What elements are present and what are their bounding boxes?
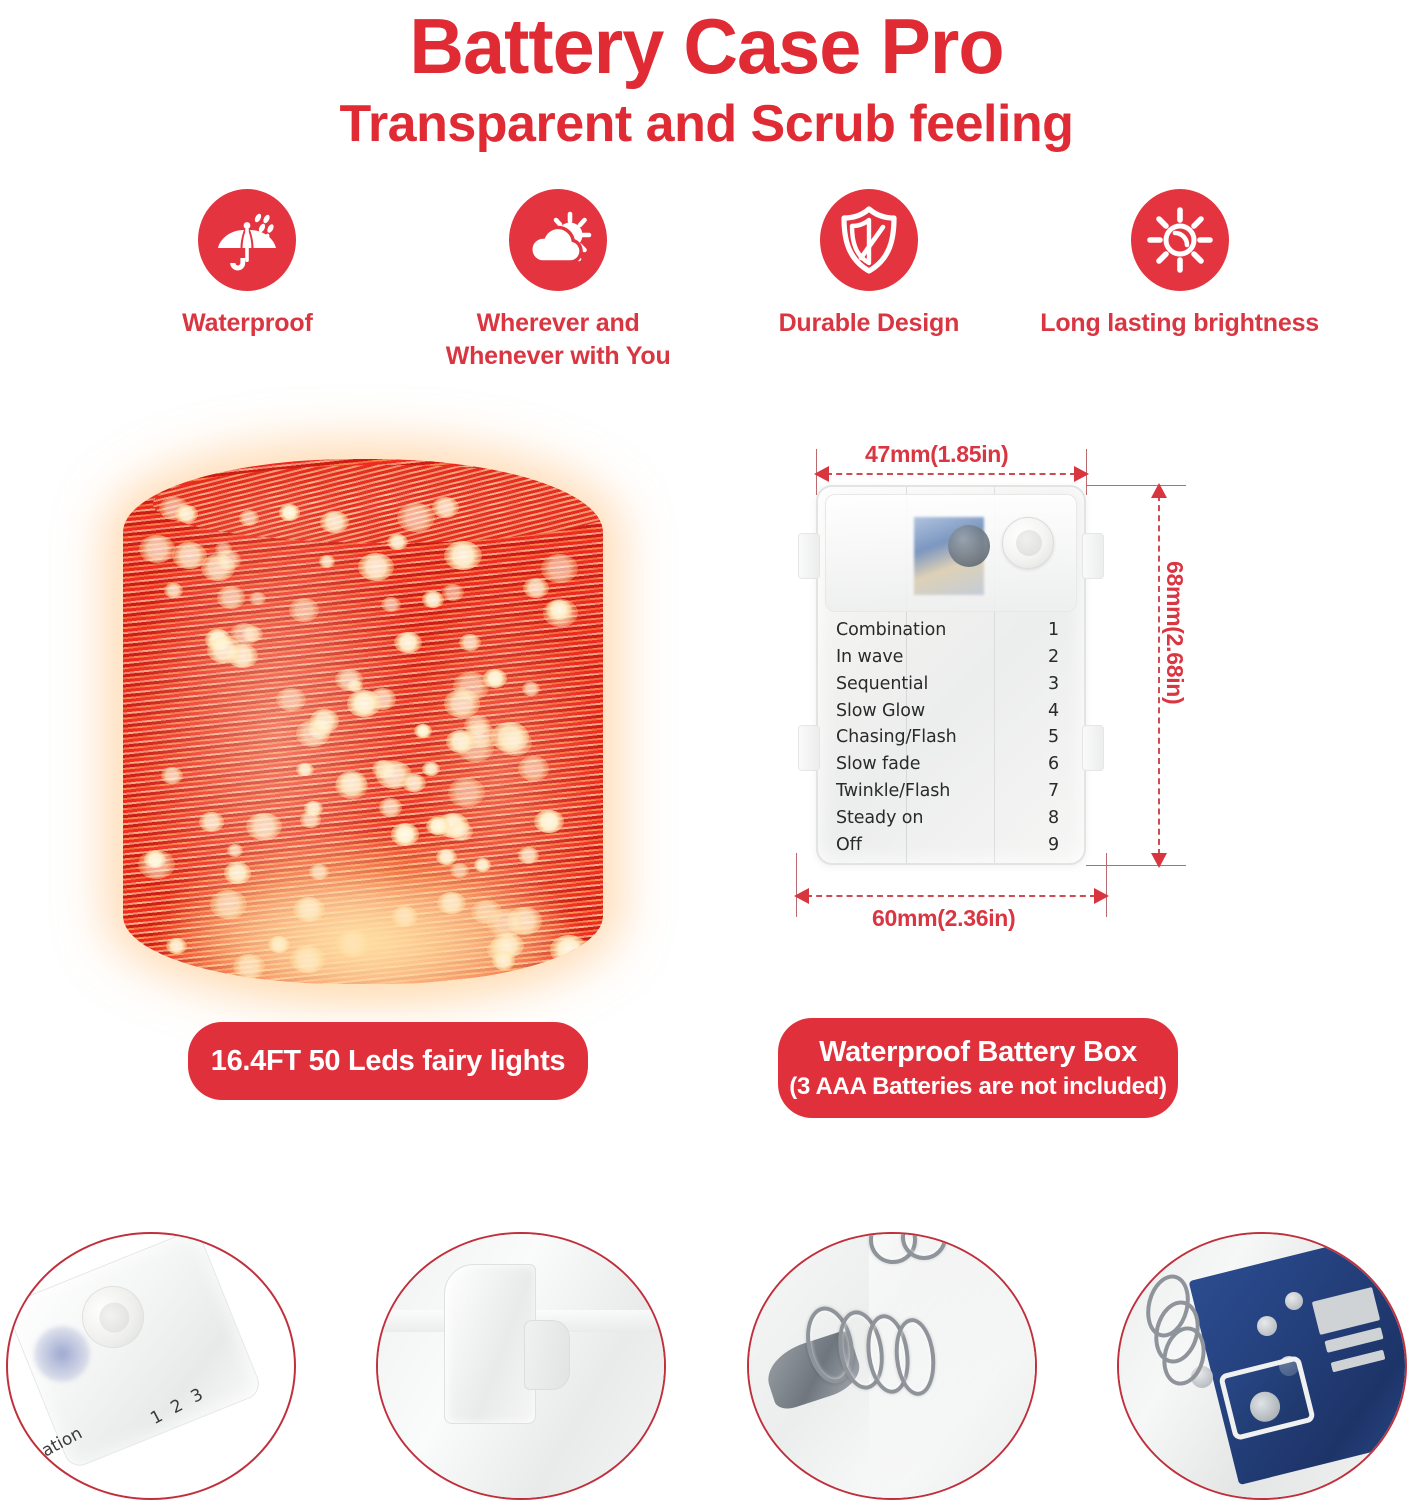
caption-fairy-lights: 16.4FT 50 Leds fairy lights — [188, 1022, 588, 1100]
latch-hook — [524, 1320, 570, 1390]
led-dot — [483, 669, 507, 688]
caption-subtitle: (3 AAA Batteries are not included) — [789, 1073, 1166, 1101]
clip-left-top — [798, 533, 820, 579]
led-dot — [444, 541, 482, 571]
mode-number: 2 — [1032, 644, 1072, 671]
led-dot — [319, 555, 335, 568]
led-dot — [175, 505, 198, 523]
led-dot — [518, 756, 549, 780]
dim-label-height-right: 68mm(2.68in) — [1161, 561, 1188, 704]
led-dot — [290, 946, 325, 974]
mode-row: Steady on 8 — [836, 805, 1072, 832]
feature-waterproof: Waterproof — [92, 189, 403, 340]
pcb-pad — [1257, 1316, 1277, 1336]
led-dot — [391, 906, 418, 927]
led-dot — [432, 497, 459, 518]
led-dot — [166, 938, 187, 954]
mode-number: 3 — [1032, 671, 1072, 698]
dim-arrow-right-bottom — [1094, 888, 1109, 904]
mode-row: In wave 2 — [836, 644, 1072, 671]
umbrella-rain-icon — [198, 189, 296, 291]
led-dot — [279, 504, 300, 521]
led-dot — [230, 623, 258, 645]
mode-list: Combination 1 In wave 2 Sequential 3 Slo… — [818, 617, 1084, 858]
led-dot — [320, 511, 349, 533]
mode-number: 8 — [1032, 805, 1072, 832]
led-dot — [474, 858, 491, 872]
battery-box-diagram: 47mm(1.85in) 68mm(2.68in) 60mm(2.36in) — [760, 433, 1220, 1003]
clip-right-bottom — [1082, 725, 1104, 771]
led-dot — [422, 762, 440, 776]
led-dot — [448, 778, 485, 807]
led-dot — [444, 689, 481, 718]
led-dot — [199, 812, 224, 831]
led-dot — [296, 763, 313, 777]
dim-arrow-left-bottom — [794, 888, 809, 904]
led-dot — [336, 771, 366, 795]
detail-battery-spring — [747, 1232, 1037, 1500]
feature-label: Wherever and Whenever with You — [446, 307, 671, 374]
led-dot — [215, 550, 241, 570]
latch-arm — [444, 1264, 536, 1424]
led-dot — [227, 844, 243, 857]
feature-portability: Wherever and Whenever with You — [403, 189, 714, 374]
led-dot — [391, 823, 420, 846]
led-dot — [309, 864, 329, 880]
dim-arrow-line-bottom — [806, 895, 1096, 897]
fairy-lights-coil-image — [95, 441, 650, 1001]
clip-left-bottom — [798, 725, 820, 771]
dim-label-width-bottom: 60mm(2.36in) — [872, 905, 1015, 932]
feature-brightness: Long lasting brightness — [1024, 189, 1335, 340]
led-dot — [246, 813, 282, 841]
led-dot — [310, 709, 340, 732]
led-dot — [546, 600, 571, 620]
mode-button[interactable] — [1002, 517, 1054, 569]
mode-name: Chasing/Flash — [836, 724, 957, 751]
mode-name: Slow Glow — [836, 698, 925, 725]
led-dot — [381, 597, 400, 612]
mode-row: Chasing/Flash 5 — [836, 724, 1072, 751]
led-dot — [164, 583, 183, 598]
detail-battery-case-button: ination 123 — [6, 1232, 296, 1500]
dim-arrow-line-top — [826, 473, 1076, 475]
led-dot — [268, 936, 290, 953]
caption-title: Waterproof Battery Box — [819, 1036, 1137, 1069]
mode-name: Twinkle/Flash — [836, 778, 950, 805]
detail-circuit-board — [1117, 1232, 1407, 1500]
mode-name: Sequential — [836, 671, 928, 698]
led-dot — [210, 890, 247, 919]
led-dot — [249, 592, 266, 605]
led-dot — [492, 951, 515, 969]
led-dot — [336, 930, 370, 957]
led-dot — [276, 688, 306, 711]
led-dot — [397, 503, 434, 532]
led-dot — [449, 822, 473, 841]
dim-label-width-top: 47mm(1.85in) — [865, 441, 1008, 468]
mode-name: In wave — [836, 644, 903, 671]
mode-row: Sequential 3 — [836, 671, 1072, 698]
mode-name: Combination — [836, 617, 946, 644]
led-dot — [172, 542, 207, 569]
dim-arrow-left-top — [814, 466, 829, 482]
sun-rays-icon — [1131, 189, 1229, 291]
led-dot — [379, 798, 402, 816]
led-dot — [450, 863, 469, 878]
dim-arrow-right-top — [1074, 466, 1089, 482]
dim-arrow-down-right — [1151, 853, 1167, 868]
led-dot — [217, 586, 246, 608]
mode-number: 5 — [1032, 724, 1072, 751]
led-dot — [426, 817, 450, 836]
led-dot — [550, 935, 588, 964]
shield-icon — [820, 189, 918, 291]
mode-row: Combination 1 — [836, 617, 1072, 644]
mode-number: 4 — [1032, 698, 1072, 725]
led-dot — [422, 591, 444, 608]
feature-durable: Durable Design — [714, 189, 1025, 340]
caption-title: 16.4FT 50 Leds fairy lights — [211, 1045, 566, 1078]
led-dot — [518, 847, 539, 863]
led-dot — [358, 553, 394, 581]
mode-row: Slow fade 6 — [836, 751, 1072, 778]
feature-label: Waterproof — [182, 307, 312, 340]
detail-gallery: ination 123 — [0, 1232, 1413, 1500]
mode-number: 6 — [1032, 751, 1072, 778]
detail-clip-latch — [376, 1232, 666, 1500]
mode-name: Slow fade — [836, 751, 920, 778]
led-dot — [300, 811, 321, 827]
led-dot — [387, 534, 408, 550]
dim-guide-left-bottom — [796, 853, 797, 917]
led-dot — [534, 810, 564, 834]
dim-guide-bottom-right — [1086, 865, 1186, 866]
led-dot — [414, 724, 432, 738]
page-subtitle: Transparent and Scrub feeling — [0, 92, 1413, 157]
page-title: Battery Case Pro — [21, 6, 1392, 88]
pcb-pad — [1285, 1292, 1303, 1310]
led-dot — [233, 954, 265, 979]
led-dot — [541, 554, 578, 583]
mode-number: 9 — [1032, 832, 1072, 859]
feature-label: Durable Design — [779, 307, 960, 340]
battery-box-body: Combination 1 In wave 2 Sequential 3 Slo… — [816, 485, 1086, 865]
dim-arrow-line-right — [1158, 495, 1160, 855]
mode-row: Twinkle/Flash 7 — [836, 778, 1072, 805]
led-dot — [394, 632, 421, 653]
led-dot — [522, 682, 540, 696]
led-dot — [293, 897, 325, 922]
led-dot — [138, 850, 175, 879]
led-dot — [161, 767, 183, 784]
dim-guide-top-right — [1086, 485, 1186, 486]
feature-label: Long lasting brightness — [1040, 307, 1319, 340]
mode-number: 7 — [1032, 778, 1072, 805]
box-lid — [825, 494, 1077, 612]
led-dot — [459, 634, 481, 651]
led-dot — [239, 510, 259, 526]
led-dot — [347, 690, 381, 717]
led-dot — [437, 892, 466, 915]
mode-number: 1 — [1032, 617, 1072, 644]
led-dot — [402, 774, 426, 793]
cloud-sun-icon — [509, 189, 607, 291]
header: Battery Case Pro Transparent and Scrub f… — [0, 0, 1413, 157]
mode-row: Off 9 — [836, 832, 1072, 859]
dim-arrow-up-right — [1151, 483, 1167, 498]
clip-right-top — [1082, 533, 1104, 579]
mode-name: Off — [836, 832, 862, 859]
led-dot — [498, 729, 532, 756]
led-dot — [335, 669, 362, 690]
led-dot — [446, 730, 476, 753]
led-dot — [224, 862, 252, 884]
caption-battery-box: Waterproof Battery Box (3 AAA Batteries … — [778, 1018, 1178, 1118]
dim-guide-right-bottom — [1106, 853, 1107, 917]
led-dot — [523, 578, 549, 598]
led-dot — [289, 598, 320, 622]
led-dot — [139, 535, 175, 563]
mode-row: Slow Glow 4 — [836, 698, 1072, 725]
led-dot — [442, 584, 464, 601]
feature-list: Waterproof Wherever and Whenever with Yo… — [0, 189, 1413, 374]
mode-name: Steady on — [836, 805, 923, 832]
